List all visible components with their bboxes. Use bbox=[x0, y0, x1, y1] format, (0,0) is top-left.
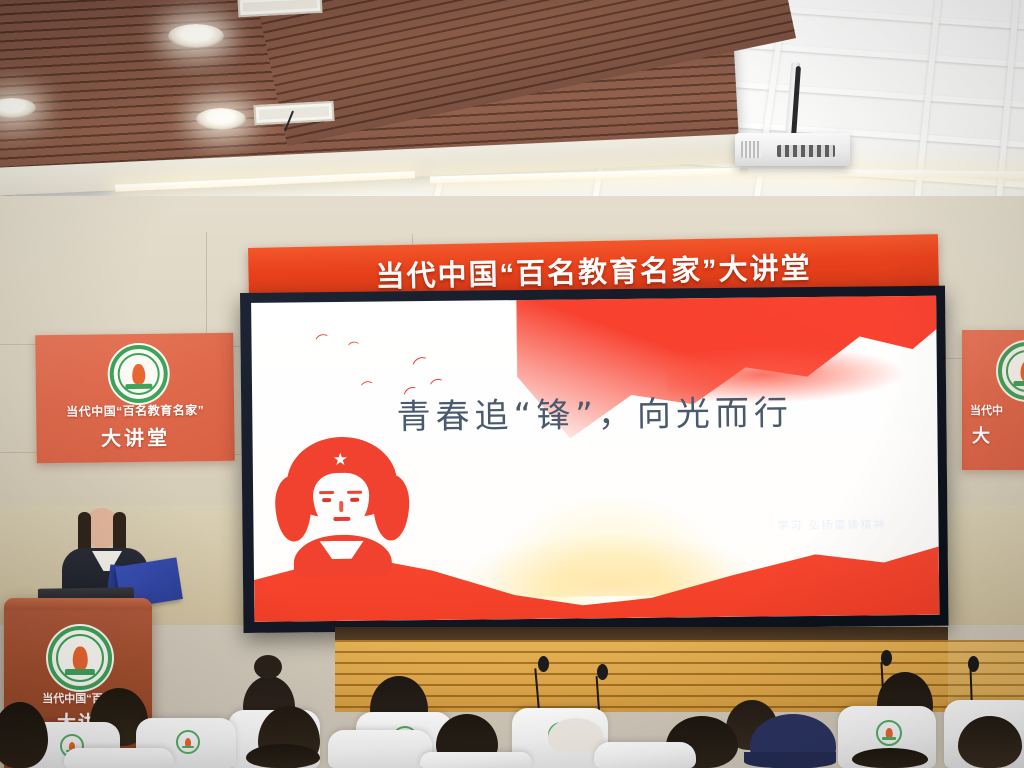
logo-book bbox=[125, 384, 152, 389]
microphone-head bbox=[968, 656, 979, 672]
wall-sign-right-line1: 当代中 bbox=[962, 402, 1024, 418]
auditorium-scene: 当代中国“百名教育名家” 大讲堂 当代中 大 当代中国“百名教育名家”大讲堂 ︵… bbox=[0, 0, 1024, 768]
logo-book bbox=[1014, 381, 1024, 386]
projector-ports bbox=[777, 145, 835, 157]
podium-logo bbox=[48, 626, 112, 690]
microphone-head bbox=[597, 664, 608, 680]
wall-sign-right-line2: 大 bbox=[962, 422, 1024, 448]
mouth bbox=[333, 517, 350, 521]
microphone-head bbox=[538, 656, 549, 672]
hair-bun bbox=[254, 655, 282, 679]
nose bbox=[339, 501, 343, 512]
audience-head bbox=[246, 744, 320, 768]
portrait-face bbox=[313, 473, 370, 532]
slide-subtitle: 学习 弘扬雷锋精神 bbox=[777, 516, 886, 533]
audience-seat bbox=[64, 748, 174, 768]
bird-icon: ︵ bbox=[407, 347, 427, 367]
red-star-icon: ★ bbox=[333, 451, 348, 468]
wall-sign-left-line1: 当代中国“百名教育名家” bbox=[36, 401, 234, 420]
microphone-head bbox=[881, 650, 892, 666]
audience-seat bbox=[420, 752, 532, 768]
wall-sign-left: 当代中国“百名教育名家” 大讲堂 bbox=[35, 333, 235, 463]
led-screen-bezel: ︵ ︵ ︵ ︵ ︵ ︵ 青春追“锋”，向光而行 学习 弘扬雷锋精神 ★ bbox=[240, 286, 949, 633]
bird-icon: ︵ bbox=[426, 369, 443, 386]
ceiling-downlight bbox=[168, 24, 224, 48]
seat-logo bbox=[176, 730, 200, 754]
bird-icon: ︵ bbox=[347, 335, 360, 348]
logo-figure bbox=[73, 647, 88, 669]
bird-icon: ︵ bbox=[359, 373, 373, 387]
program-logo-right bbox=[998, 342, 1024, 400]
wall-sign-left-line2: 大讲堂 bbox=[36, 421, 234, 452]
logo-book bbox=[65, 669, 95, 675]
eye-right bbox=[350, 498, 359, 502]
cap-brim bbox=[744, 752, 836, 768]
logo-figure bbox=[132, 364, 145, 384]
projector-vent bbox=[741, 141, 761, 158]
podium-top-edge bbox=[4, 598, 152, 610]
audience-head bbox=[852, 748, 928, 768]
wall-tile bbox=[0, 232, 207, 345]
audience-head bbox=[958, 716, 1022, 768]
eyebrow-left bbox=[319, 491, 334, 494]
wall-sign-right: 当代中 大 bbox=[962, 330, 1024, 470]
bird-icon: ︵ bbox=[312, 324, 328, 340]
eye-left bbox=[322, 498, 331, 502]
seat-logo bbox=[876, 720, 902, 746]
audience-seat bbox=[328, 730, 432, 768]
lei-feng-portrait: ★ bbox=[276, 430, 408, 581]
ceiling-projector bbox=[735, 133, 850, 166]
ceiling-downlight bbox=[196, 108, 246, 130]
ceiling-air-vent bbox=[254, 101, 335, 125]
presentation-screen[interactable]: ︵ ︵ ︵ ︵ ︵ ︵ 青春追“锋”，向光而行 学习 弘扬雷锋精神 ★ bbox=[251, 296, 939, 622]
eyebrow-right bbox=[347, 491, 362, 494]
audience-white-cap bbox=[548, 718, 604, 752]
audience-seat bbox=[594, 742, 696, 768]
program-logo bbox=[109, 345, 168, 404]
